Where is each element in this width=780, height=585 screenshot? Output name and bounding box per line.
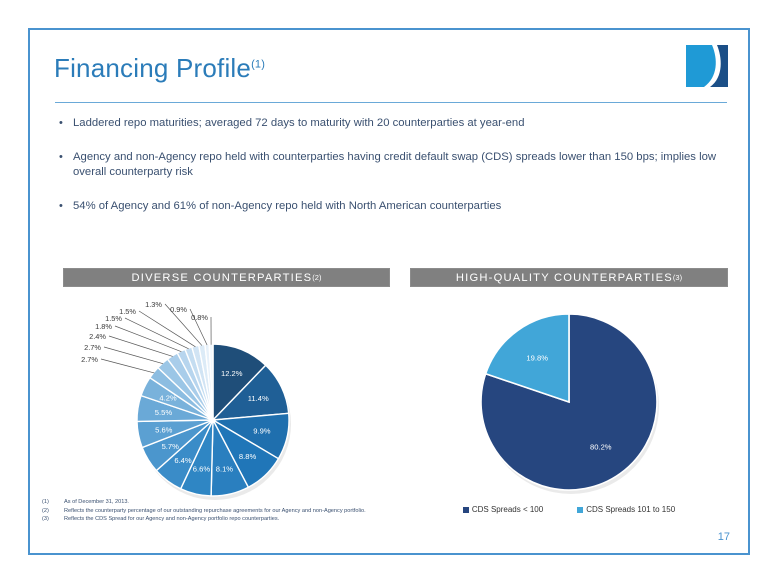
bullet-text: 54% of Agency and 61% of non-Agency repo… xyxy=(73,200,501,212)
page-title-text: Financing Profile xyxy=(54,53,251,83)
svg-text:5.5%: 5.5% xyxy=(155,408,173,417)
svg-text:80.2%: 80.2% xyxy=(590,442,612,451)
svg-text:2.7%: 2.7% xyxy=(81,355,98,364)
svg-text:5.7%: 5.7% xyxy=(162,442,180,451)
bullet-marker: • xyxy=(59,150,63,166)
svg-text:0.9%: 0.9% xyxy=(170,305,187,314)
svg-text:6.4%: 6.4% xyxy=(174,456,192,465)
pie-chart-high-quality: 80.2%19.8% xyxy=(410,292,728,522)
footnote-text: Reflects the counterparty percentage of … xyxy=(64,507,366,516)
svg-text:1.5%: 1.5% xyxy=(119,307,136,316)
bullet-list: • Laddered repo maturities; averaged 72 … xyxy=(55,116,731,232)
bullet-marker: • xyxy=(59,199,63,215)
list-item: • 54% of Agency and 61% of non-Agency re… xyxy=(55,199,731,215)
footnote-row: (2) Reflects the counterparty percentage… xyxy=(42,507,542,516)
footnotes: (1) As of December 31, 2013. (2) Reflect… xyxy=(42,498,542,524)
footnote-number: (3) xyxy=(42,515,64,524)
svg-text:9.9%: 9.9% xyxy=(253,427,271,436)
pie-chart-diverse: 12.2%11.4%9.9%8.8%8.1%6.6%6.4%5.7%5.6%5.… xyxy=(63,292,390,522)
svg-text:19.8%: 19.8% xyxy=(526,354,548,363)
svg-text:4.2%: 4.2% xyxy=(159,393,177,402)
footnote-text: Reflects the CDS Spread for our Agency a… xyxy=(64,515,279,524)
footnote-number: (1) xyxy=(42,498,64,507)
page-title-footnote-ref: (1) xyxy=(251,58,265,70)
svg-text:12.2%: 12.2% xyxy=(221,369,243,378)
svg-text:0.8%: 0.8% xyxy=(191,313,208,322)
svg-text:8.1%: 8.1% xyxy=(216,464,234,473)
svg-text:2.4%: 2.4% xyxy=(89,332,106,341)
chart-high-quality-counterparties: 80.2%19.8% xyxy=(410,292,728,522)
company-logo xyxy=(684,43,730,89)
footnote-row: (1) As of December 31, 2013. xyxy=(42,498,542,507)
bullet-marker: • xyxy=(59,116,63,132)
panel-header-footnote-ref: (3) xyxy=(673,273,682,282)
panel-header-footnote-ref: (2) xyxy=(312,273,321,282)
footnote-text: As of December 31, 2013. xyxy=(64,498,129,507)
footnote-row: (3) Reflects the CDS Spread for our Agen… xyxy=(42,515,542,524)
page-title: Financing Profile(1) xyxy=(54,53,265,84)
svg-text:1.3%: 1.3% xyxy=(145,300,162,309)
legend-swatch xyxy=(577,507,583,513)
page-number: 17 xyxy=(718,531,730,543)
list-item: • Laddered repo maturities; averaged 72 … xyxy=(55,116,731,132)
slide-frame: Financing Profile(1) • Laddered repo mat… xyxy=(28,28,750,555)
panel-header-label: DIVERSE COUNTERPARTIES xyxy=(132,272,313,284)
list-item: • Agency and non-Agency repo held with c… xyxy=(55,150,731,181)
panel-header-high-quality-counterparties: HIGH-QUALITY COUNTERPARTIES(3) xyxy=(410,268,728,287)
svg-text:6.6%: 6.6% xyxy=(193,464,211,473)
panel-header-diverse-counterparties: DIVERSE COUNTERPARTIES(2) xyxy=(63,268,390,287)
svg-text:2.7%: 2.7% xyxy=(84,343,101,352)
svg-text:1.8%: 1.8% xyxy=(95,322,112,331)
svg-text:8.8%: 8.8% xyxy=(239,452,257,461)
bullet-text: Agency and non-Agency repo held with cou… xyxy=(73,151,716,179)
chart-diverse-counterparties: 12.2%11.4%9.9%8.8%8.1%6.6%6.4%5.7%5.6%5.… xyxy=(63,292,390,522)
svg-text:11.4%: 11.4% xyxy=(248,394,269,403)
title-divider xyxy=(55,102,727,103)
footnote-number: (2) xyxy=(42,507,64,516)
legend-item: CDS Spreads 101 to 150 xyxy=(577,505,675,514)
panel-header-label: HIGH-QUALITY COUNTERPARTIES xyxy=(456,272,673,284)
bullet-text: Laddered repo maturities; averaged 72 da… xyxy=(73,117,525,129)
svg-text:5.6%: 5.6% xyxy=(155,425,173,434)
legend-label: CDS Spreads 101 to 150 xyxy=(586,505,675,514)
